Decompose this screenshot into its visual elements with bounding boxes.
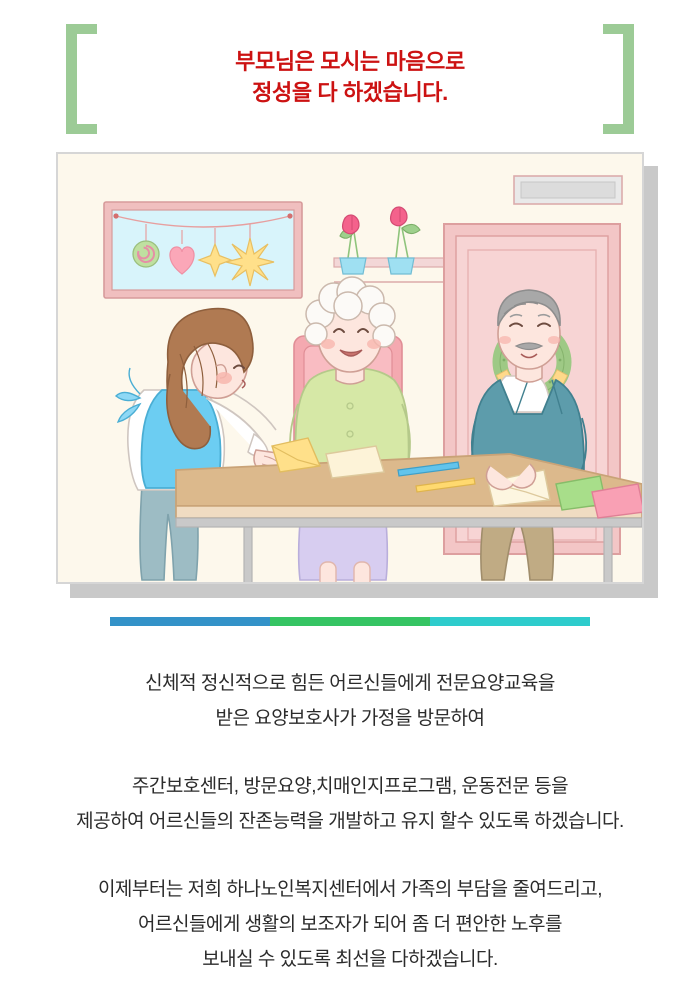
open-bracket-icon — [66, 24, 106, 134]
page-title: 부모님은 모시는 마음으로 정성을 다 하겠습니다. — [110, 46, 590, 108]
page-title-line-1: 부모님은 모시는 마음으로 — [110, 46, 590, 77]
paragraph-services: 주간보호센터, 방문요양,치매인지프로그램, 운동전문 등을 제공하여 어르신들… — [0, 769, 700, 839]
page-title-line-2: 정성을 다 하겠습니다. — [110, 77, 590, 108]
paragraph-line: 받은 요양보호사가 가정을 방문하여 — [0, 701, 700, 736]
illustration-frame — [56, 152, 644, 584]
paragraph-line: 신체적 정신적으로 힘든 어르신들에게 전문요양교육을 — [0, 666, 700, 701]
paragraph-line: 이제부터는 저희 하나노인복지센터에서 가족의 부담을 줄여드리고, — [0, 872, 700, 907]
care-scene-illustration — [58, 154, 642, 582]
paragraph-promise: 이제부터는 저희 하나노인복지센터에서 가족의 부담을 줄여드리고, 어르신들에… — [0, 872, 700, 977]
tricolor-divider — [110, 617, 590, 626]
paragraph-line: 제공하여 어르신들의 잔존능력을 개발하고 유지 할수 있도록 하겠습니다. — [0, 804, 700, 839]
gray-sign-plate — [514, 176, 622, 204]
close-bracket-icon — [594, 24, 634, 134]
divider-segment-teal — [430, 617, 590, 626]
paragraph-line: 어르신들에게 생활의 보조자가 되어 좀 더 편안한 노후를 — [0, 907, 700, 942]
body-copy-section: 신체적 정신적으로 힘든 어르신들에게 전문요양교육을 받은 요양보호사가 가정… — [0, 666, 700, 977]
paragraph-line: 보내실 수 있도록 최선을 다하겠습니다. — [0, 942, 700, 977]
paragraph-line: 주간보호센터, 방문요양,치매인지프로그램, 운동전문 등을 — [0, 769, 700, 804]
divider-segment-green — [270, 617, 430, 626]
window-picture-frame — [104, 202, 302, 298]
divider-segment-blue — [110, 617, 270, 626]
headline-section: 부모님은 모시는 마음으로 정성을 다 하겠습니다. — [0, 0, 700, 150]
paragraph-intro: 신체적 정신적으로 힘든 어르신들에게 전문요양교육을 받은 요양보호사가 가정… — [0, 666, 700, 736]
illustration-section — [56, 152, 644, 584]
